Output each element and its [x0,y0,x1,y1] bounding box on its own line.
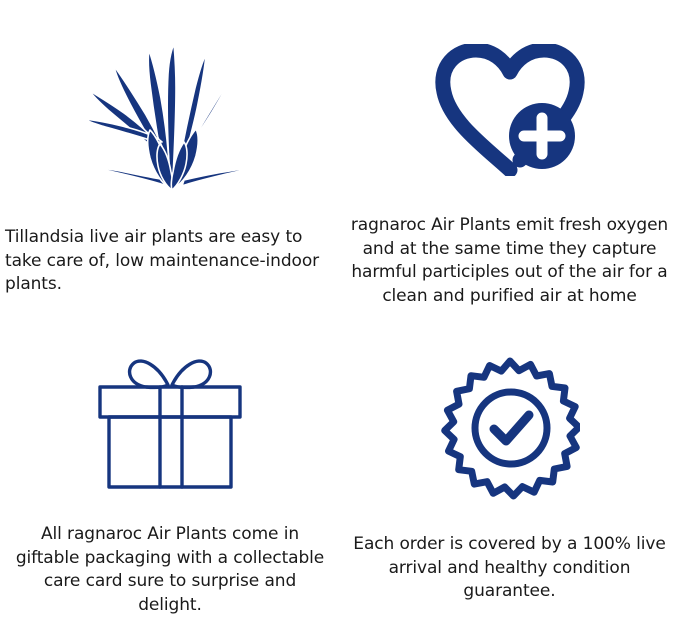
feature-panel-giftable: All ragnaroc Air Plants come in giftable… [0,308,340,617]
guarantee-badge-icon [440,355,580,503]
heart-plus-icon [434,44,586,176]
feature-panel-guarantee: Each order is covered by a 100% live arr… [340,308,679,617]
feature-text-care: Tillandsia live air plants are easy to t… [0,226,340,297]
feature-text-oxygen: ragnaroc Air Plants emit fresh oxygen an… [340,214,679,308]
icon-area-care [0,0,340,226]
feature-grid: Tillandsia live air plants are easy to t… [0,0,679,617]
feature-panel-oxygen: ragnaroc Air Plants emit fresh oxygen an… [340,0,679,308]
air-plant-icon [84,40,256,190]
feature-text-giftable: All ragnaroc Air Plants come in giftable… [0,523,340,617]
icon-area-giftable [0,308,340,523]
feature-panel-care: Tillandsia live air plants are easy to t… [0,0,340,308]
gift-box-icon [94,349,246,493]
icon-area-oxygen [340,0,679,214]
icon-area-guarantee [340,308,679,533]
feature-text-guarantee: Each order is covered by a 100% live arr… [340,533,679,604]
